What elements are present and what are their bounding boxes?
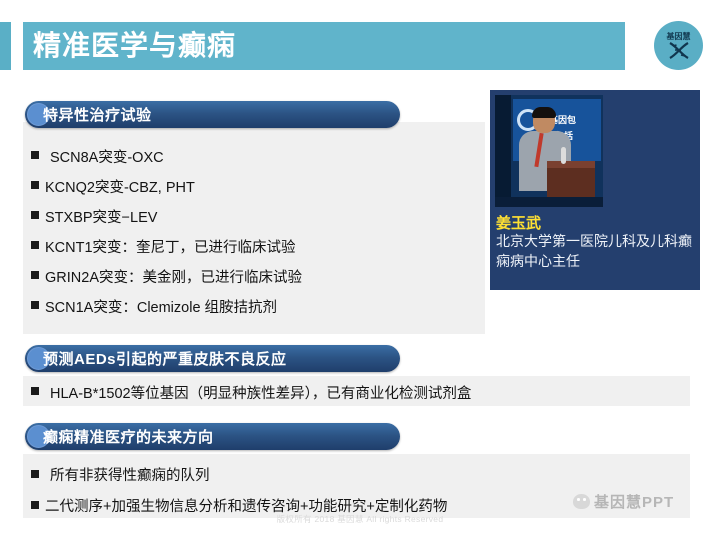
bullet-list-specific-therapy-trials: SCN8A突变-OXC KCNQ2突变-CBZ, PHT STXBP突变−LEV…	[31, 141, 302, 321]
list-item: GRIN2A突变：美金刚，已进行临床试验	[31, 261, 302, 291]
list-item: KCNT1突变：奎尼丁，已进行临床试验	[31, 231, 302, 261]
section-header-predict-aeds-skin-reactions: 预测AEDs引起的严重皮肤不良反应	[25, 345, 400, 372]
list-item-text: 所有非获得性癫痫的队列	[50, 464, 210, 485]
square-bullet-icon	[31, 181, 39, 189]
square-bullet-icon	[31, 387, 39, 395]
bullet-list-future-directions: 所有非获得性癫痫的队列 二代测序+加强生物信息分析和遗传咨询+功能研究+定制化药…	[31, 459, 447, 521]
speaker-card: 基因包 包括 姜玉武 北京大学第一医院儿科及儿科癫痫病中心主任	[490, 90, 700, 290]
watermark: 基因慧PPT	[573, 491, 674, 512]
copyright-footer: 版权所有 2018 基因慧 All rights Reserved	[0, 513, 720, 525]
section-header-label: 特异性治疗试验	[43, 104, 152, 125]
speaker-photo: 基因包 包括	[495, 95, 603, 207]
list-item: SCN1A突变：Clemizole 组胺拮抗剂	[31, 291, 302, 321]
list-item: SCN8A突变-OXC	[31, 141, 302, 171]
speaker-role: 北京大学第一医院儿科及儿科癫痫病中心主任	[496, 232, 694, 272]
list-item: KCNQ2突变-CBZ, PHT	[31, 171, 302, 201]
speaker-name: 姜玉武	[496, 212, 541, 233]
title-accent-bar	[0, 22, 11, 70]
wechat-icon	[573, 494, 590, 509]
dna-helix-icon	[667, 42, 691, 59]
list-item: STXBP突变−LEV	[31, 201, 302, 231]
logo-label: 基因慧	[667, 32, 691, 41]
square-bullet-icon	[31, 301, 39, 309]
section-header-specific-therapy-trials: 特异性治疗试验	[25, 101, 400, 128]
list-item-text: SCN1A突变：Clemizole 组胺拮抗剂	[45, 296, 277, 317]
square-bullet-icon	[31, 151, 39, 159]
square-bullet-icon	[31, 211, 39, 219]
list-item: HLA-B*1502等位基因（明显种族性差异），已有商业化检测试剂盒	[31, 381, 471, 403]
list-item-text: KCNT1突变：奎尼丁，已进行临床试验	[45, 236, 296, 257]
square-bullet-icon	[31, 241, 39, 249]
section-header-label: 预测AEDs引起的严重皮肤不良反应	[43, 348, 287, 369]
square-bullet-icon	[31, 470, 39, 478]
watermark-label: 基因慧PPT	[594, 491, 674, 512]
speaker-hair	[532, 107, 556, 118]
page-title: 精准医学与癫痫	[33, 25, 236, 67]
list-item-text: KCNQ2突变-CBZ, PHT	[45, 176, 195, 197]
square-bullet-icon	[31, 271, 39, 279]
list-item-text: GRIN2A突变：美金刚，已进行临床试验	[45, 266, 302, 287]
list-item-text: HLA-B*1502等位基因（明显种族性差异），已有商业化检测试剂盒	[50, 382, 471, 403]
genetics-logo: 基因慧	[654, 21, 703, 70]
section-header-future-directions: 癫痫精准医疗的未来方向	[25, 423, 400, 450]
square-bullet-icon	[31, 501, 39, 509]
section-header-label: 癫痫精准医疗的未来方向	[43, 426, 214, 447]
bullet-list-predict-aeds-skin-reactions: HLA-B*1502等位基因（明显种族性差异），已有商业化检测试剂盒	[31, 381, 471, 403]
list-item: 所有非获得性癫痫的队列	[31, 459, 447, 490]
list-item-text: STXBP突变−LEV	[45, 206, 157, 227]
list-item-text: SCN8A突变-OXC	[50, 146, 164, 167]
microphone-icon	[561, 147, 566, 164]
